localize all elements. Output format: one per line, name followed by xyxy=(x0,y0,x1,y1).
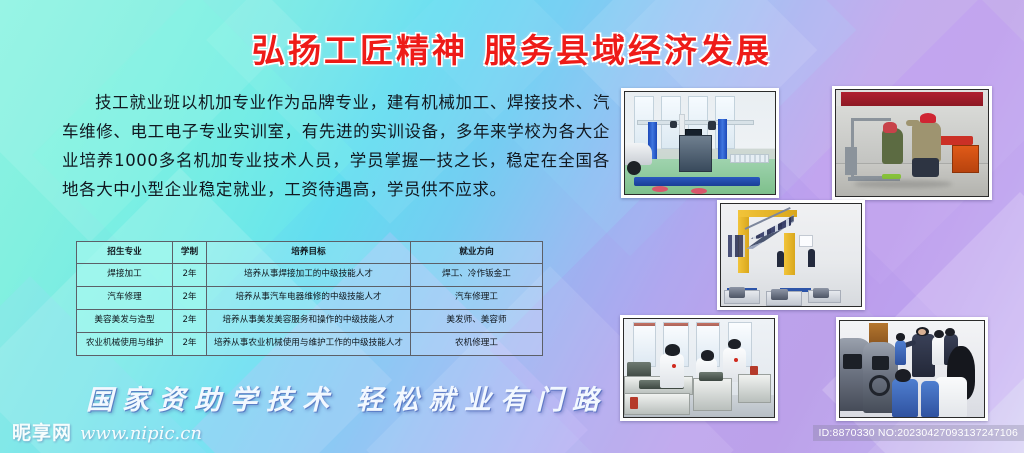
table-row: 美容美发与造型 2年 培养从事美发美容服务和操作的中级技能人才 美发师、美容师 xyxy=(77,310,543,333)
cell-career: 汽车修理工 xyxy=(411,287,543,310)
slogan-segment-one: 国家资助学技术 xyxy=(86,385,338,416)
scene-turn-plate xyxy=(691,188,707,194)
scene-blue-ramp xyxy=(634,177,760,186)
driving-simulator-photo xyxy=(836,317,988,421)
majors-table-wrapper: 招生专业 学制 培养目标 就业方向 焊接加工 2年 培养从事焊接加工的中级技能人… xyxy=(76,241,542,356)
scene-distant-roof xyxy=(664,323,688,326)
welding-practice-photo xyxy=(832,86,992,200)
title-segment-two: 服务县域经济发展 xyxy=(484,31,772,70)
scene-machine-tool xyxy=(738,374,771,403)
table-row: 焊接加工 2年 培养从事焊接加工的中级技能人才 焊工、冷作钣金工 xyxy=(77,264,543,287)
scene-worker-second xyxy=(882,128,903,164)
scene-welding-machine xyxy=(952,145,979,173)
cell-goal: 培养从事美发美容服务和操作的中级技能人才 xyxy=(207,310,411,333)
scene-machine xyxy=(771,289,788,300)
scene-distant-roof xyxy=(697,323,719,326)
title-segment-one: 弘扬工匠精神 xyxy=(252,31,468,70)
scene-student-head xyxy=(934,330,944,339)
scene-foreground-student xyxy=(935,377,967,417)
column-header-goal: 培养目标 xyxy=(207,242,411,264)
scene-worker-legs xyxy=(912,158,939,177)
scene-yellow-column xyxy=(784,233,795,276)
scene-seated-student xyxy=(892,379,918,417)
slogan-segment-two: 轻松就业有门路 xyxy=(356,385,608,416)
column-header-major: 招生专业 xyxy=(77,242,173,264)
scene-red-equipment xyxy=(939,136,972,146)
cell-major: 农业机械使用与维护 xyxy=(77,333,173,356)
scene-green-panel xyxy=(882,174,902,179)
scene-machine-tool xyxy=(693,378,732,411)
scene-student-group xyxy=(728,235,745,257)
scene-student-head xyxy=(665,344,680,356)
auto-repair-workshop-photo xyxy=(621,88,779,198)
cell-years: 2年 xyxy=(173,310,207,333)
scene-standing-person xyxy=(808,249,815,267)
scene-sensor-head xyxy=(670,121,677,128)
scene-foreground-blue xyxy=(921,381,940,417)
photo-frame-inner xyxy=(839,320,985,418)
lathe-machining-photo xyxy=(620,315,778,421)
scene-worker-arm xyxy=(906,120,920,126)
scene-student-head xyxy=(701,350,715,361)
scene-welding-mask xyxy=(883,122,897,134)
scene-radiator xyxy=(730,154,769,163)
scene-red-cap xyxy=(920,113,937,123)
body-paragraph: 技工就业班以机加专业作为品牌专业，建有机械加工、焊接技术、汽车维修、电工电子专业… xyxy=(62,88,610,204)
scene-alignment-machine xyxy=(679,135,712,172)
training-center-stairs-photo xyxy=(717,200,865,310)
cell-years: 2年 xyxy=(173,333,207,356)
scene-red-part xyxy=(630,397,638,409)
scene-simulator-screen xyxy=(872,356,889,370)
cell-goal: 培养从事汽车电器维修的中级技能人才 xyxy=(207,287,411,310)
scene-sensor-head xyxy=(708,121,716,130)
scene-turn-plate xyxy=(652,186,668,192)
cell-career: 农机修理工 xyxy=(411,333,543,356)
cell-major: 汽车修理 xyxy=(77,287,173,310)
cell-major: 焊接加工 xyxy=(77,264,173,287)
cell-goal: 培养从事农业机械使用与维护工作的中级技能人才 xyxy=(207,333,411,356)
scene-machine xyxy=(729,287,744,298)
scene-instructor-head xyxy=(728,339,742,350)
scene-machine-head xyxy=(699,372,723,381)
table-row: 农业机械使用与维护 2年 培养从事农业机械使用与维护工作的中级技能人才 农机修理… xyxy=(77,333,543,356)
photo-frame-inner xyxy=(835,89,989,197)
scene-machine xyxy=(813,288,828,298)
image-id-strip: ID:8870330 NO:20230427093137247106 xyxy=(813,425,1024,441)
watermark-url: www.nipic.cn xyxy=(80,423,202,444)
poster-title: 弘扬工匠精神服务县域经济发展 xyxy=(0,24,1024,72)
scene-worker-main xyxy=(912,122,941,162)
scene-steering-wheel xyxy=(869,375,891,396)
scene-seated-student-head xyxy=(895,369,911,382)
photo-frame-inner xyxy=(720,203,862,307)
bottom-slogan: 国家资助学技术轻松就业有门路 xyxy=(86,378,608,417)
scene-steel-bar xyxy=(845,147,857,175)
column-header-years: 学制 xyxy=(173,242,207,264)
scene-wooden-door xyxy=(869,323,888,344)
table-header-row: 招生专业 学制 培养目标 就业方向 xyxy=(77,242,543,264)
cell-years: 2年 xyxy=(173,287,207,310)
watermark-logo: 昵享网 xyxy=(12,418,72,445)
cell-years: 2年 xyxy=(173,264,207,287)
cell-career: 美发师、美容师 xyxy=(411,310,543,333)
scene-simulator-screen xyxy=(843,354,862,369)
majors-table: 招生专业 学制 培养目标 就业方向 焊接加工 2年 培养从事焊接加工的中级技能人… xyxy=(76,241,543,356)
cell-career: 焊工、冷作钣金工 xyxy=(411,264,543,287)
site-watermark: 昵享网 www.nipic.cn xyxy=(12,418,202,445)
scene-student-blue xyxy=(895,340,907,365)
photo-frame-inner xyxy=(623,318,775,418)
scene-shadow xyxy=(854,180,951,187)
scene-red-part xyxy=(750,366,758,375)
scene-wall-board xyxy=(799,235,813,247)
scene-uniform-badge xyxy=(734,358,738,362)
scene-red-banner xyxy=(841,92,984,106)
scene-student-coat xyxy=(660,354,684,387)
scene-standing-person xyxy=(777,251,784,267)
scene-distant-roof xyxy=(634,323,655,326)
table-row: 汽车修理 2年 培养从事汽车电器维修的中级技能人才 汽车修理工 xyxy=(77,287,543,310)
scene-window xyxy=(633,322,656,367)
column-header-career: 就业方向 xyxy=(411,242,543,264)
scene-student-head xyxy=(896,333,905,341)
poster-canvas: 弘扬工匠精神服务县域经济发展 技工就业班以机加专业作为品牌专业，建有机械加工、焊… xyxy=(0,0,1024,453)
cell-goal: 培养从事焊接加工的中级技能人才 xyxy=(207,264,411,287)
scene-car-tire xyxy=(627,161,641,175)
photo-frame-inner xyxy=(624,91,776,195)
cell-major: 美容美发与造型 xyxy=(77,310,173,333)
